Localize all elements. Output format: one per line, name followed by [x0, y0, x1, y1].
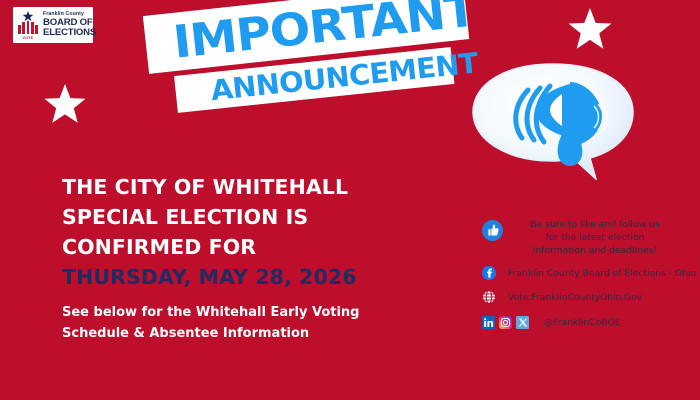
headline-line-1: THE CITY OF WHITEHALL — [62, 172, 462, 202]
thumbs-up-icon — [482, 218, 508, 246]
website-url: Vote.FranklinCountyOhio.Gov — [508, 292, 642, 303]
social-handles-row[interactable]: @FranklinCoBOE — [482, 314, 682, 330]
social-handle: @FranklinCoBOE — [544, 317, 621, 328]
logo-mark-icon: VOTE — [17, 10, 39, 40]
x-twitter-icon[interactable] — [516, 316, 529, 329]
headline-line-3: CONFIRMED FOR — [62, 232, 462, 262]
follow-line-3: information and deadlines! — [508, 244, 682, 257]
follow-line-1: Be sure to like and follow us — [508, 218, 682, 231]
follow-line-2: for the latest election — [508, 231, 682, 244]
facebook-page-name: Franklin County Board of Elections - Ohi… — [508, 268, 696, 279]
headline-line-2: SPECIAL ELECTION IS — [62, 202, 462, 232]
logo-vote-text: VOTE — [17, 36, 39, 40]
logo-elections-line: ELECTIONS — [43, 28, 96, 38]
subnote-block: See below for the Whitehall Early Voting… — [62, 302, 422, 344]
election-date: THURSDAY, MAY 28, 2026 — [62, 262, 462, 292]
megaphone-speech-bubble-icon — [470, 62, 636, 180]
social-panel: Be sure to like and follow us for the la… — [482, 218, 682, 330]
follow-us-row: Be sure to like and follow us for the la… — [482, 218, 682, 257]
website-row[interactable]: Vote.FranklinCountyOhio.Gov — [482, 289, 682, 305]
subnote-line-1: See below for the Whitehall Early Voting — [62, 302, 422, 323]
facebook-row[interactable]: Franklin County Board of Elections - Ohi… — [482, 265, 682, 281]
announcement-poster: VOTE Franklin County BOARD OF ELECTIONS … — [0, 0, 700, 400]
headline-block: THE CITY OF WHITEHALL SPECIAL ELECTION I… — [62, 172, 462, 292]
decorative-star-icon — [44, 84, 86, 124]
decorative-star-icon — [568, 8, 612, 50]
instagram-icon[interactable] — [499, 316, 512, 329]
linkedin-icon[interactable] — [482, 316, 495, 329]
franklin-county-boe-logo[interactable]: VOTE Franklin County BOARD OF ELECTIONS — [13, 7, 93, 43]
logo-county-line: Franklin County — [43, 12, 96, 17]
facebook-icon[interactable] — [482, 266, 508, 280]
globe-icon[interactable] — [482, 290, 508, 304]
follow-us-text: Be sure to like and follow us for the la… — [508, 218, 682, 257]
subnote-line-2: Schedule & Absentee Information — [62, 323, 422, 344]
